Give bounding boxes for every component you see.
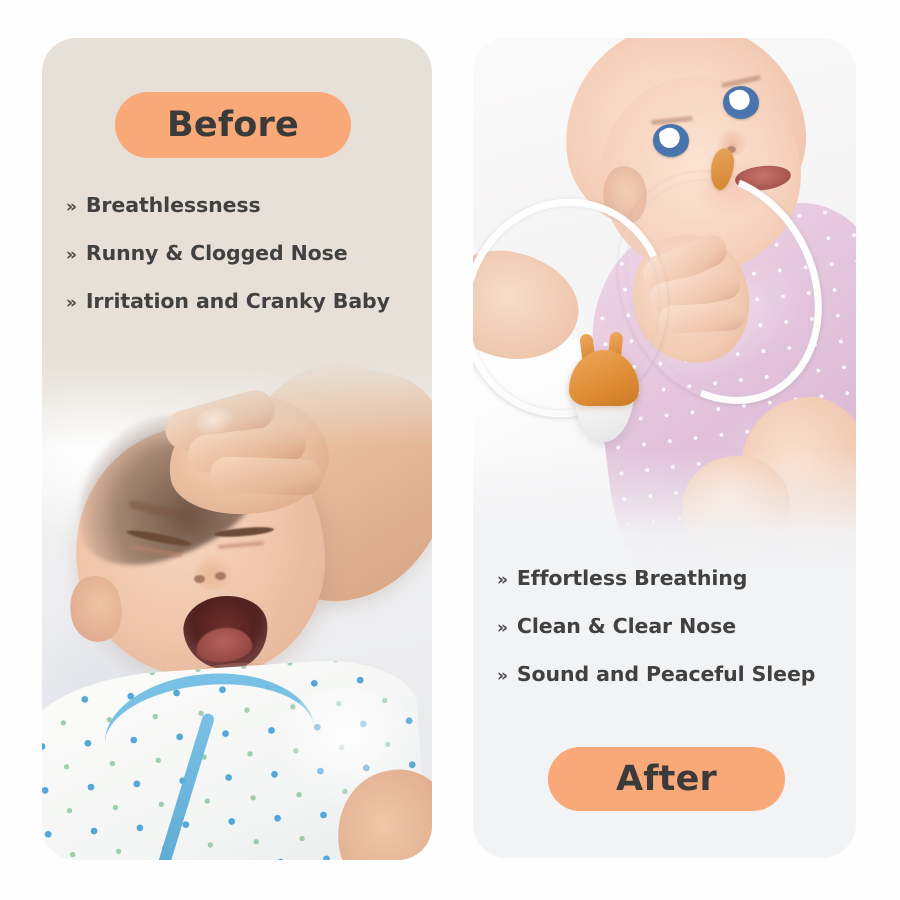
list-item: » Sound and Peaceful Sleep — [497, 662, 847, 686]
before-bullet-list: » Breathlessness » Runny & Clogged Nose … — [66, 193, 416, 313]
before-badge-label: Before — [167, 105, 299, 145]
chevron-double-right-icon: » — [497, 618, 508, 638]
list-item-label: Breathlessness — [86, 193, 261, 217]
list-item-label: Runny & Clogged Nose — [86, 241, 348, 265]
list-item: » Runny & Clogged Nose — [66, 241, 416, 265]
list-item: » Breathlessness — [66, 193, 416, 217]
chevron-double-right-icon: » — [66, 197, 77, 217]
list-item-label: Effortless Breathing — [517, 566, 747, 590]
after-photo-illustration — [473, 38, 856, 568]
list-item: » Effortless Breathing — [497, 566, 847, 590]
list-item: » Clean & Clear Nose — [497, 614, 847, 638]
list-item-label: Sound and Peaceful Sleep — [517, 662, 815, 686]
chevron-double-right-icon: » — [66, 245, 77, 265]
baby-eye-right — [723, 86, 759, 119]
comparison-stage: Before » Breathlessness » Runny & Clogge… — [0, 0, 900, 900]
after-badge[interactable]: After — [548, 747, 785, 811]
after-card: » Effortless Breathing » Clean & Clear N… — [473, 38, 856, 858]
chevron-double-right-icon: » — [497, 570, 508, 590]
list-item-label: Irritation and Cranky Baby — [86, 289, 390, 313]
before-photo — [42, 338, 432, 860]
list-item: » Irritation and Cranky Baby — [66, 289, 416, 313]
baby-nostril-left — [194, 575, 205, 583]
eye-glint-right-icon — [729, 92, 739, 102]
list-item-label: Clean & Clear Nose — [517, 614, 736, 638]
after-badge-label: After — [616, 759, 717, 799]
after-photo — [473, 38, 856, 568]
chevron-double-right-icon: » — [66, 293, 77, 313]
before-badge[interactable]: Before — [115, 92, 351, 158]
baby-nostril-right — [215, 572, 226, 580]
baby-nose — [192, 554, 234, 590]
adult-finger-3 — [209, 456, 322, 496]
baby-eye-left — [653, 124, 689, 157]
eye-glint-left-icon — [659, 130, 669, 140]
before-photo-illustration — [42, 338, 432, 860]
chevron-double-right-icon: » — [497, 666, 508, 686]
after-bullet-list: » Effortless Breathing » Clean & Clear N… — [497, 566, 847, 686]
before-card: Before » Breathlessness » Runny & Clogge… — [42, 38, 432, 860]
